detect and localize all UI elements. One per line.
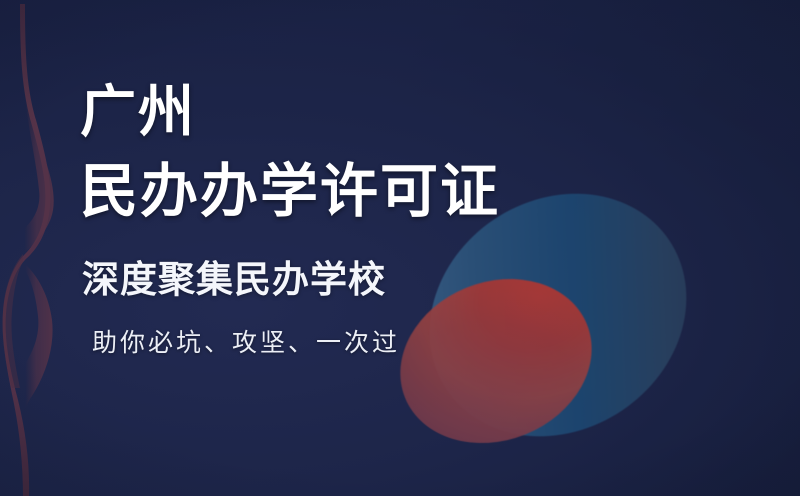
promo-banner: 广州 民办办学许可证 深度聚集民办学校 助你必坑、攻坚、一次过 — [0, 0, 800, 496]
subheadline: 深度聚集民办学校 — [82, 261, 386, 298]
banner-text-block: 广州 民办办学许可证 深度聚集民办学校 助你必坑、攻坚、一次过 — [0, 0, 800, 496]
tagline: 助你必坑、攻坚、一次过 — [92, 330, 400, 355]
headline-city: 广州 — [80, 84, 196, 140]
headline-main: 民办办学许可证 — [80, 162, 500, 220]
